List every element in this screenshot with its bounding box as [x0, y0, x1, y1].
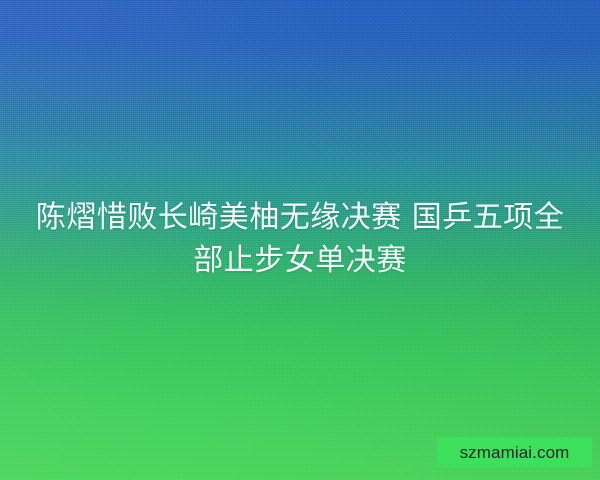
- cover-image: 陈熠惜败长崎美柚无缘决赛 国乒五项全部止步女单决赛 szmamiai.com: [0, 0, 600, 480]
- watermark-label: szmamiai.com: [460, 444, 570, 461]
- headline-title: 陈熠惜败长崎美柚无缘决赛 国乒五项全部止步女单决赛: [0, 196, 600, 282]
- watermark-badge: szmamiai.com: [437, 437, 592, 467]
